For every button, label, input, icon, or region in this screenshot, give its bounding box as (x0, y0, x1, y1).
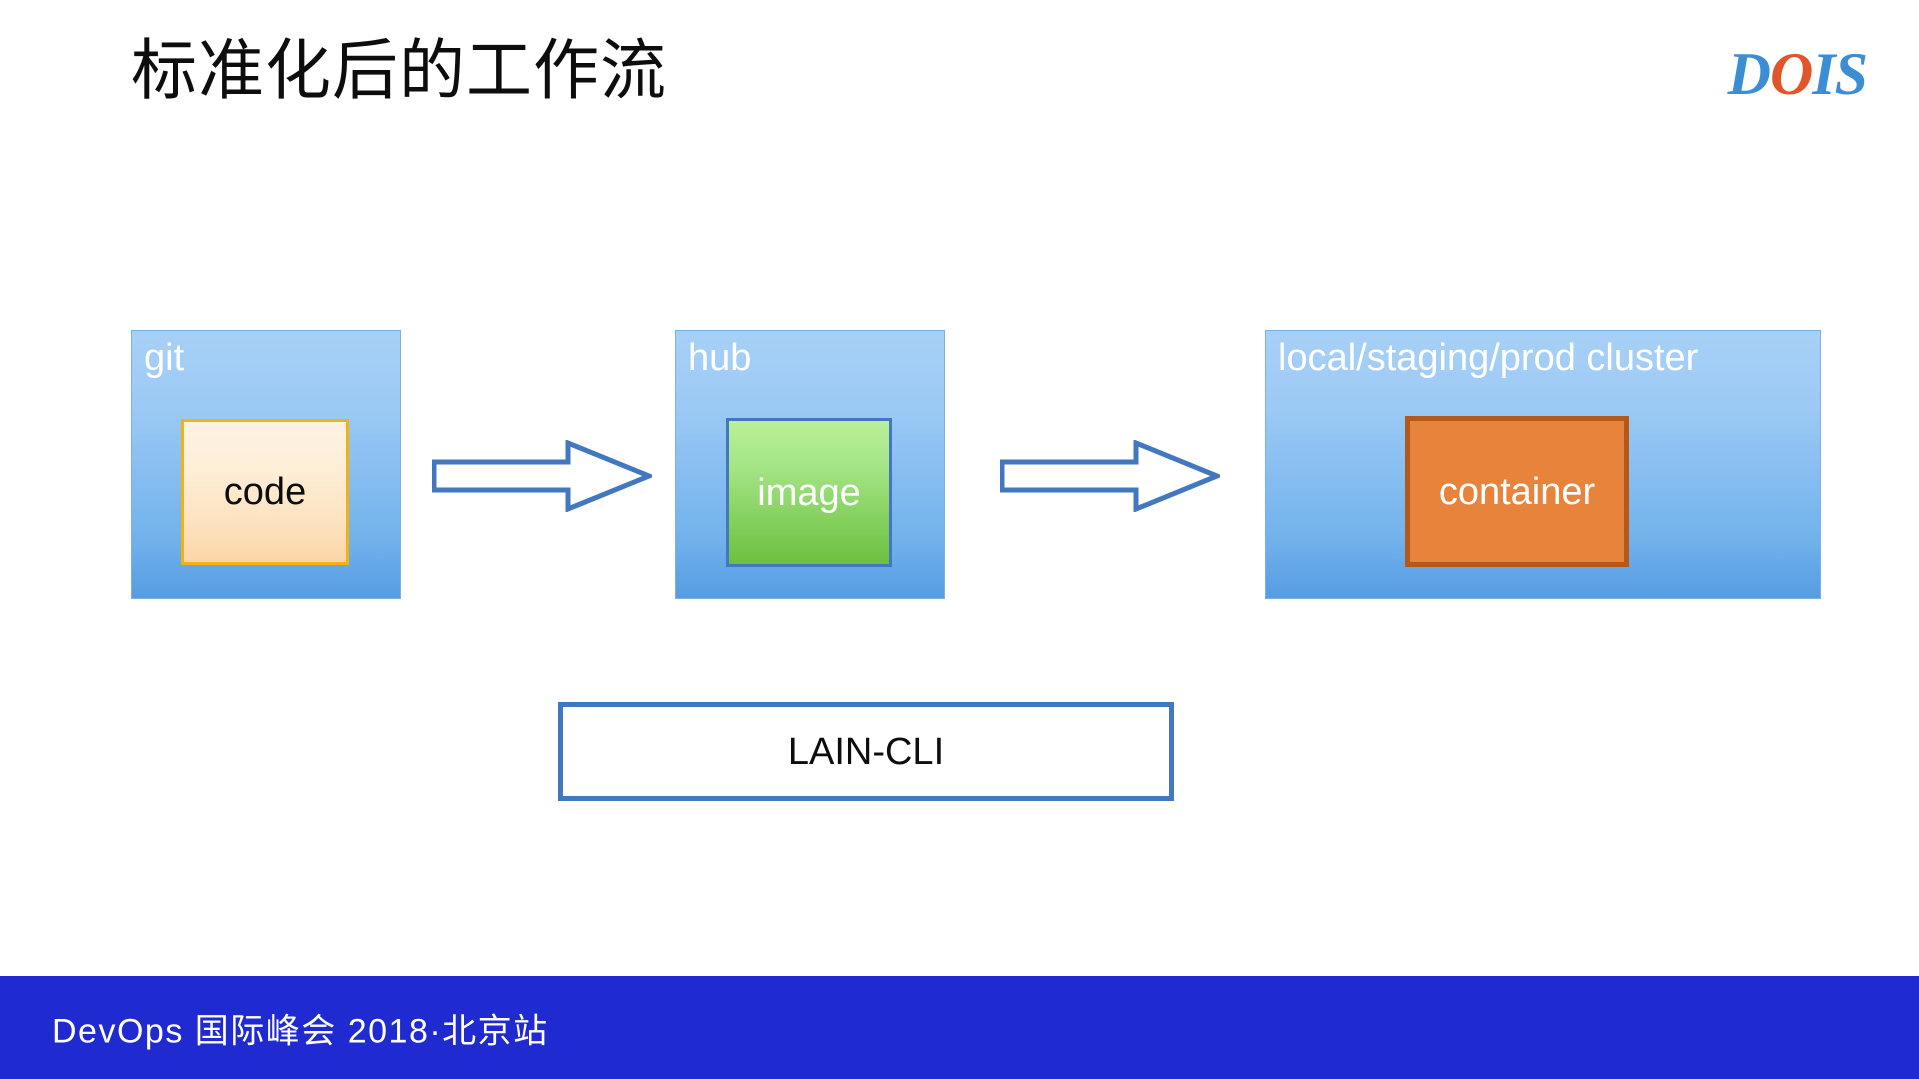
stage-label-hub: hub (688, 335, 751, 383)
logo-letter-d: D (1728, 41, 1770, 107)
artifact-box-container: container (1405, 416, 1629, 567)
flow-arrow-hub-to-cluster (1000, 440, 1220, 512)
artifact-box-image: image (726, 418, 892, 567)
artifact-box-code: code (181, 419, 349, 565)
tool-box-lain-cli: LAIN-CLI (558, 702, 1174, 801)
logo-letter-o: O (1770, 41, 1812, 107)
logo-letters-is: IS (1812, 41, 1867, 107)
dois-logo: DOIS (1728, 44, 1867, 104)
footer-text: DevOps 国际峰会 2018·北京站 (52, 1003, 549, 1052)
stage-label-git: git (144, 335, 184, 383)
stage-label-cluster: local/staging/prod cluster (1278, 335, 1698, 383)
flow-arrow-git-to-hub (432, 440, 652, 512)
arrow-shape (1002, 443, 1217, 509)
page-title: 标准化后的工作流 (131, 34, 667, 108)
stage-box-hub: hub image (675, 330, 945, 599)
stage-box-git: git code (131, 330, 401, 599)
arrow-shape (434, 443, 649, 509)
footer-bar: DevOps 国际峰会 2018·北京站 (0, 976, 1919, 1079)
stage-box-cluster: local/staging/prod cluster container (1265, 330, 1821, 599)
